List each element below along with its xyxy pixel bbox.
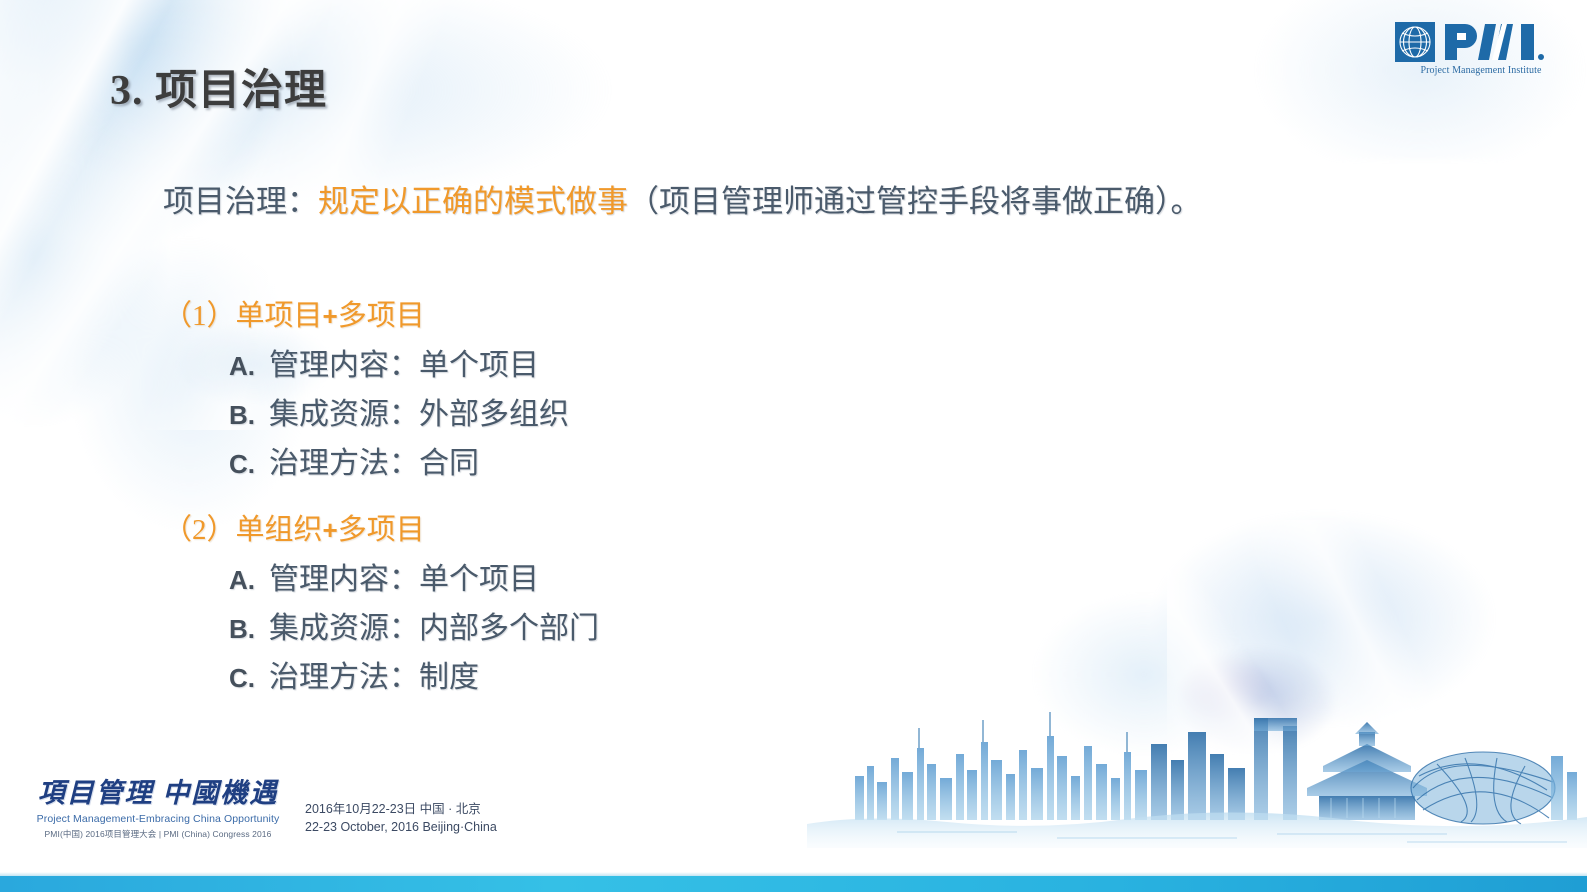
group-1-heading-suffix: 多项目 xyxy=(338,300,425,332)
pmi-logo-mark xyxy=(1393,20,1569,64)
list-item-marker: B. xyxy=(229,400,269,431)
list-item: C. 治理方法：制度 xyxy=(229,652,599,696)
congress-brand-chinese: 項目管理 中國機遇 xyxy=(18,771,298,810)
list-item: B. 集成资源：外部多组织 xyxy=(229,389,569,433)
beijing-skyline-graphic xyxy=(807,648,1587,848)
list-item-marker: C. xyxy=(229,449,269,480)
congress-date-block: 2016年10月22-23日 中国 · 北京 22-23 October, 20… xyxy=(305,800,497,836)
background-burst-right xyxy=(1107,590,1407,810)
lead-accent-text: 规定以正确的模式做事 xyxy=(318,184,628,219)
congress-footer-logo: 項目管理 中國機遇 Project Management-Embracing C… xyxy=(18,771,298,840)
congress-brand-english: Project Management-Embracing China Oppor… xyxy=(18,813,298,825)
lead-prefix: 项目治理： xyxy=(163,184,318,219)
lead-suffix: （项目管理师通过管控手段将事做正确）。 xyxy=(628,184,1202,219)
list-item: A. 管理内容：单个项目 xyxy=(229,554,599,598)
list-item-text: 管理内容：单个项目 xyxy=(269,554,539,598)
background-light-streaks-right xyxy=(1167,520,1587,760)
group-1-heading: （1）单项目+多项目 xyxy=(163,292,569,334)
list-item-text: 治理方法：制度 xyxy=(269,652,479,696)
slide-canvas: Project Management Institute 3. 项目治理 项目治… xyxy=(0,0,1587,892)
group-2-heading-suffix: 多项目 xyxy=(338,514,425,546)
list-item-text: 管理内容：单个项目 xyxy=(269,340,539,384)
list-item-marker: A. xyxy=(229,565,269,596)
group-2-heading-prefix: （2）单组织 xyxy=(163,514,323,546)
group-2-heading: （2）单组织+多项目 xyxy=(163,506,599,548)
list-item: A. 管理内容：单个项目 xyxy=(229,340,569,384)
congress-brand-subline: PMI(中国) 2016项目管理大会 | PMI (China) Congres… xyxy=(18,828,298,840)
lead-definition-line: 项目治理：规定以正确的模式做事（项目管理师通过管控手段将事做正确）。 xyxy=(163,176,1202,221)
group-2-heading-plus: + xyxy=(323,515,338,545)
group-1-heading-prefix: （1）单项目 xyxy=(163,300,323,332)
list-item-text: 治理方法：合同 xyxy=(269,438,479,482)
list-item-marker: C. xyxy=(229,663,269,694)
list-item-text: 集成资源：内部多个部门 xyxy=(269,603,599,647)
list-item: B. 集成资源：内部多个部门 xyxy=(229,603,599,647)
content-group-1: （1）单项目+多项目 A. 管理内容：单个项目 B. 集成资源：外部多组织 C.… xyxy=(163,292,569,482)
list-item-text: 集成资源：外部多组织 xyxy=(269,389,569,433)
congress-date-chinese: 2016年10月22-23日 中国 · 北京 xyxy=(305,800,497,818)
pmi-logo: Project Management Institute xyxy=(1393,20,1569,76)
list-item-marker: A. xyxy=(229,351,269,382)
list-item-marker: B. xyxy=(229,614,269,645)
pmi-logo-tagline: Project Management Institute xyxy=(1393,65,1569,76)
list-item: C. 治理方法：合同 xyxy=(229,438,569,482)
bottom-accent-bar xyxy=(0,876,1587,892)
content-group-2: （2）单组织+多项目 A. 管理内容：单个项目 B. 集成资源：内部多个部门 C… xyxy=(163,506,599,696)
congress-date-english: 22-23 October, 2016 Beijing·China xyxy=(305,818,497,836)
background-wash-right xyxy=(987,470,1547,800)
group-1-heading-plus: + xyxy=(323,301,338,331)
page-title: 3. 项目治理 xyxy=(110,56,327,117)
